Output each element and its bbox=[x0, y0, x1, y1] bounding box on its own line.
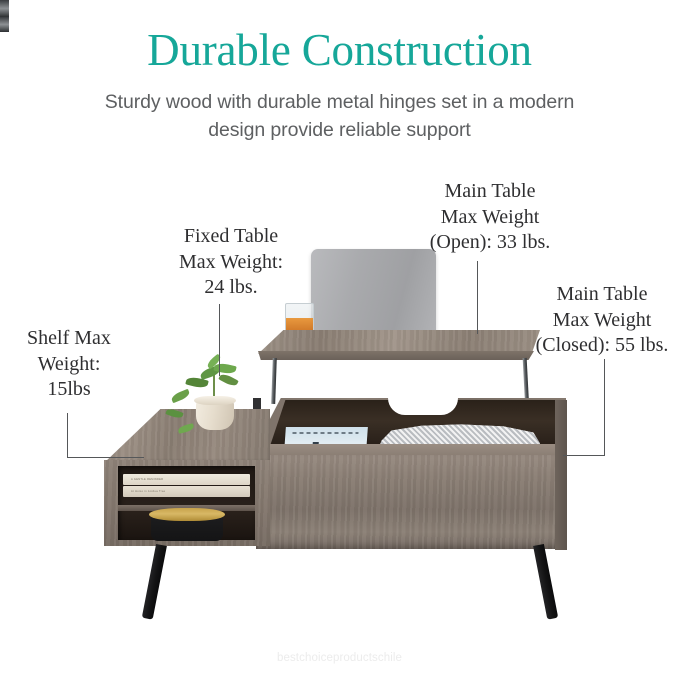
gold-box-lid bbox=[149, 508, 225, 521]
book-spine-text: A GENTLE REMINDER bbox=[131, 478, 163, 481]
cabinet-right-side-panel bbox=[555, 400, 567, 550]
wood-grain-texture bbox=[258, 330, 540, 354]
magazine-masthead bbox=[292, 432, 358, 434]
leader-line-shelf-horizontal bbox=[67, 457, 144, 458]
plant-leaf bbox=[218, 372, 239, 388]
lift-mechanism-strut-left bbox=[271, 358, 277, 404]
plant-leaf bbox=[170, 389, 191, 404]
laptop-prop bbox=[311, 249, 436, 337]
cabinet-finger-notch bbox=[388, 398, 458, 415]
leader-line-main-closed-horizontal bbox=[563, 455, 605, 456]
table-leg-front-right bbox=[533, 544, 558, 620]
callout-shelf-max: Shelf Max Weight: 15lbs bbox=[2, 326, 136, 403]
plant-pot-rim bbox=[194, 396, 236, 405]
lift-top-tabletop bbox=[258, 330, 540, 354]
main-cabinet-body bbox=[256, 455, 566, 549]
book-prop-upper: A GENTLE REMINDER bbox=[123, 474, 250, 485]
callout-main-table-open: Main Table Max Weight (Open): 33 lbs. bbox=[385, 179, 595, 256]
leader-line-main-open bbox=[477, 261, 478, 334]
lift-hinge-bracket-left bbox=[0, 0, 9, 17]
wood-grain-texture bbox=[104, 409, 270, 463]
lift-top-edge bbox=[258, 351, 534, 360]
lift-hinge-bracket-right bbox=[0, 17, 9, 32]
callout-fixed-table: Fixed Table Max Weight: 24 lbs. bbox=[143, 224, 319, 301]
callout-main-table-closed: Main Table Max Weight (Closed): 55 lbs. bbox=[522, 282, 679, 359]
watermark: bestchoiceproductschile bbox=[0, 652, 679, 664]
leader-line-main-closed-vertical bbox=[604, 359, 605, 456]
wood-grain-texture bbox=[256, 455, 566, 549]
book-prop-lower: At Home in Joshua Tree bbox=[123, 486, 250, 497]
table-leg-front-left bbox=[142, 544, 167, 620]
leader-line-fixed-table bbox=[219, 304, 220, 376]
fixed-side-table-surface bbox=[104, 409, 270, 463]
leader-line-shelf-vertical bbox=[67, 413, 68, 458]
book-spine-text: At Home in Joshua Tree bbox=[131, 490, 165, 493]
infographic-canvas: Durable Construction Sturdy wood with du… bbox=[0, 0, 679, 679]
